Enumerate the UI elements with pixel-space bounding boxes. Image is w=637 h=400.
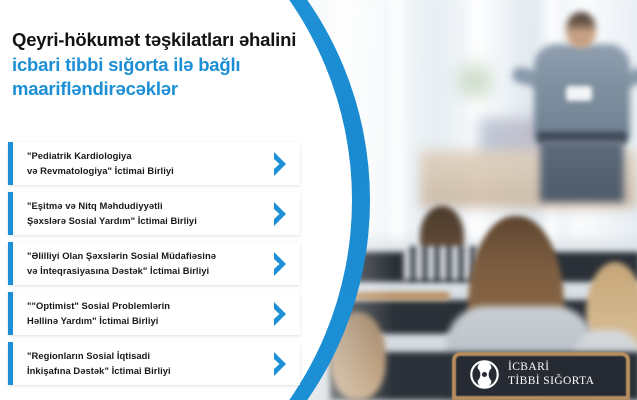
- brand-logo-line-2: TİBBİ SIĞORTA: [508, 375, 594, 387]
- page-title: Qeyri-hökumət təşkilatları əhalini icbar…: [12, 28, 352, 102]
- insurance-circle-icon: [470, 360, 499, 389]
- list-item[interactable]: ""Optimist" Sosial Problemlərin Həllinə …: [8, 292, 300, 335]
- brand-logo: İCBARİ TİBBİ SIĞORTA: [470, 360, 594, 389]
- list-item-label: ""Optimist" Sosial Problemlərin Həllinə …: [13, 299, 212, 327]
- list-item-label: "Pediatrik Kardiologiya və Revmatologiya…: [13, 149, 216, 177]
- list-item[interactable]: "Pediatrik Kardiologiya və Revmatologiya…: [8, 142, 300, 185]
- chevron-right-icon: [272, 201, 290, 227]
- list-item-label: "Eşitmə və Nitq Məhdudiyyətli Şəxslərə S…: [13, 199, 239, 227]
- list-item[interactable]: "Əlilliyi Olan Şəxslərin Sosial Müdafiəs…: [8, 242, 300, 285]
- brand-logo-text: İCBARİ TİBBİ SIĞORTA: [508, 361, 594, 388]
- list-item-label: "Əlilliyi Olan Şəxslərin Sosial Müdafiəs…: [13, 249, 258, 277]
- chevron-right-icon: [272, 301, 290, 327]
- list-item[interactable]: "Regionların Sosial İqtisadi İnkişafına …: [8, 342, 300, 385]
- organization-list: "Pediatrik Kardiologiya və Revmatologiya…: [8, 142, 300, 392]
- poster-root: Qeyri-hökumət təşkilatları əhalini icbar…: [0, 0, 637, 400]
- headline-line-1: Qeyri-hökumət təşkilatları əhalini: [12, 28, 352, 53]
- chevron-right-icon: [272, 251, 290, 277]
- chevron-right-icon: [272, 351, 290, 377]
- headline-line-3: maarifləndirəcəklər: [12, 77, 352, 102]
- content-layer: Qeyri-hökumət təşkilatları əhalini icbar…: [0, 0, 637, 400]
- list-item[interactable]: "Eşitmə və Nitq Məhdudiyyətli Şəxslərə S…: [8, 192, 300, 235]
- chevron-right-icon: [272, 151, 290, 177]
- brand-logo-line-1: İCBARİ: [508, 361, 549, 373]
- headline-line-2: icbari tibbi sığorta ilə bağlı: [12, 53, 352, 78]
- list-item-label: "Regionların Sosial İqtisadi İnkişafına …: [13, 349, 213, 377]
